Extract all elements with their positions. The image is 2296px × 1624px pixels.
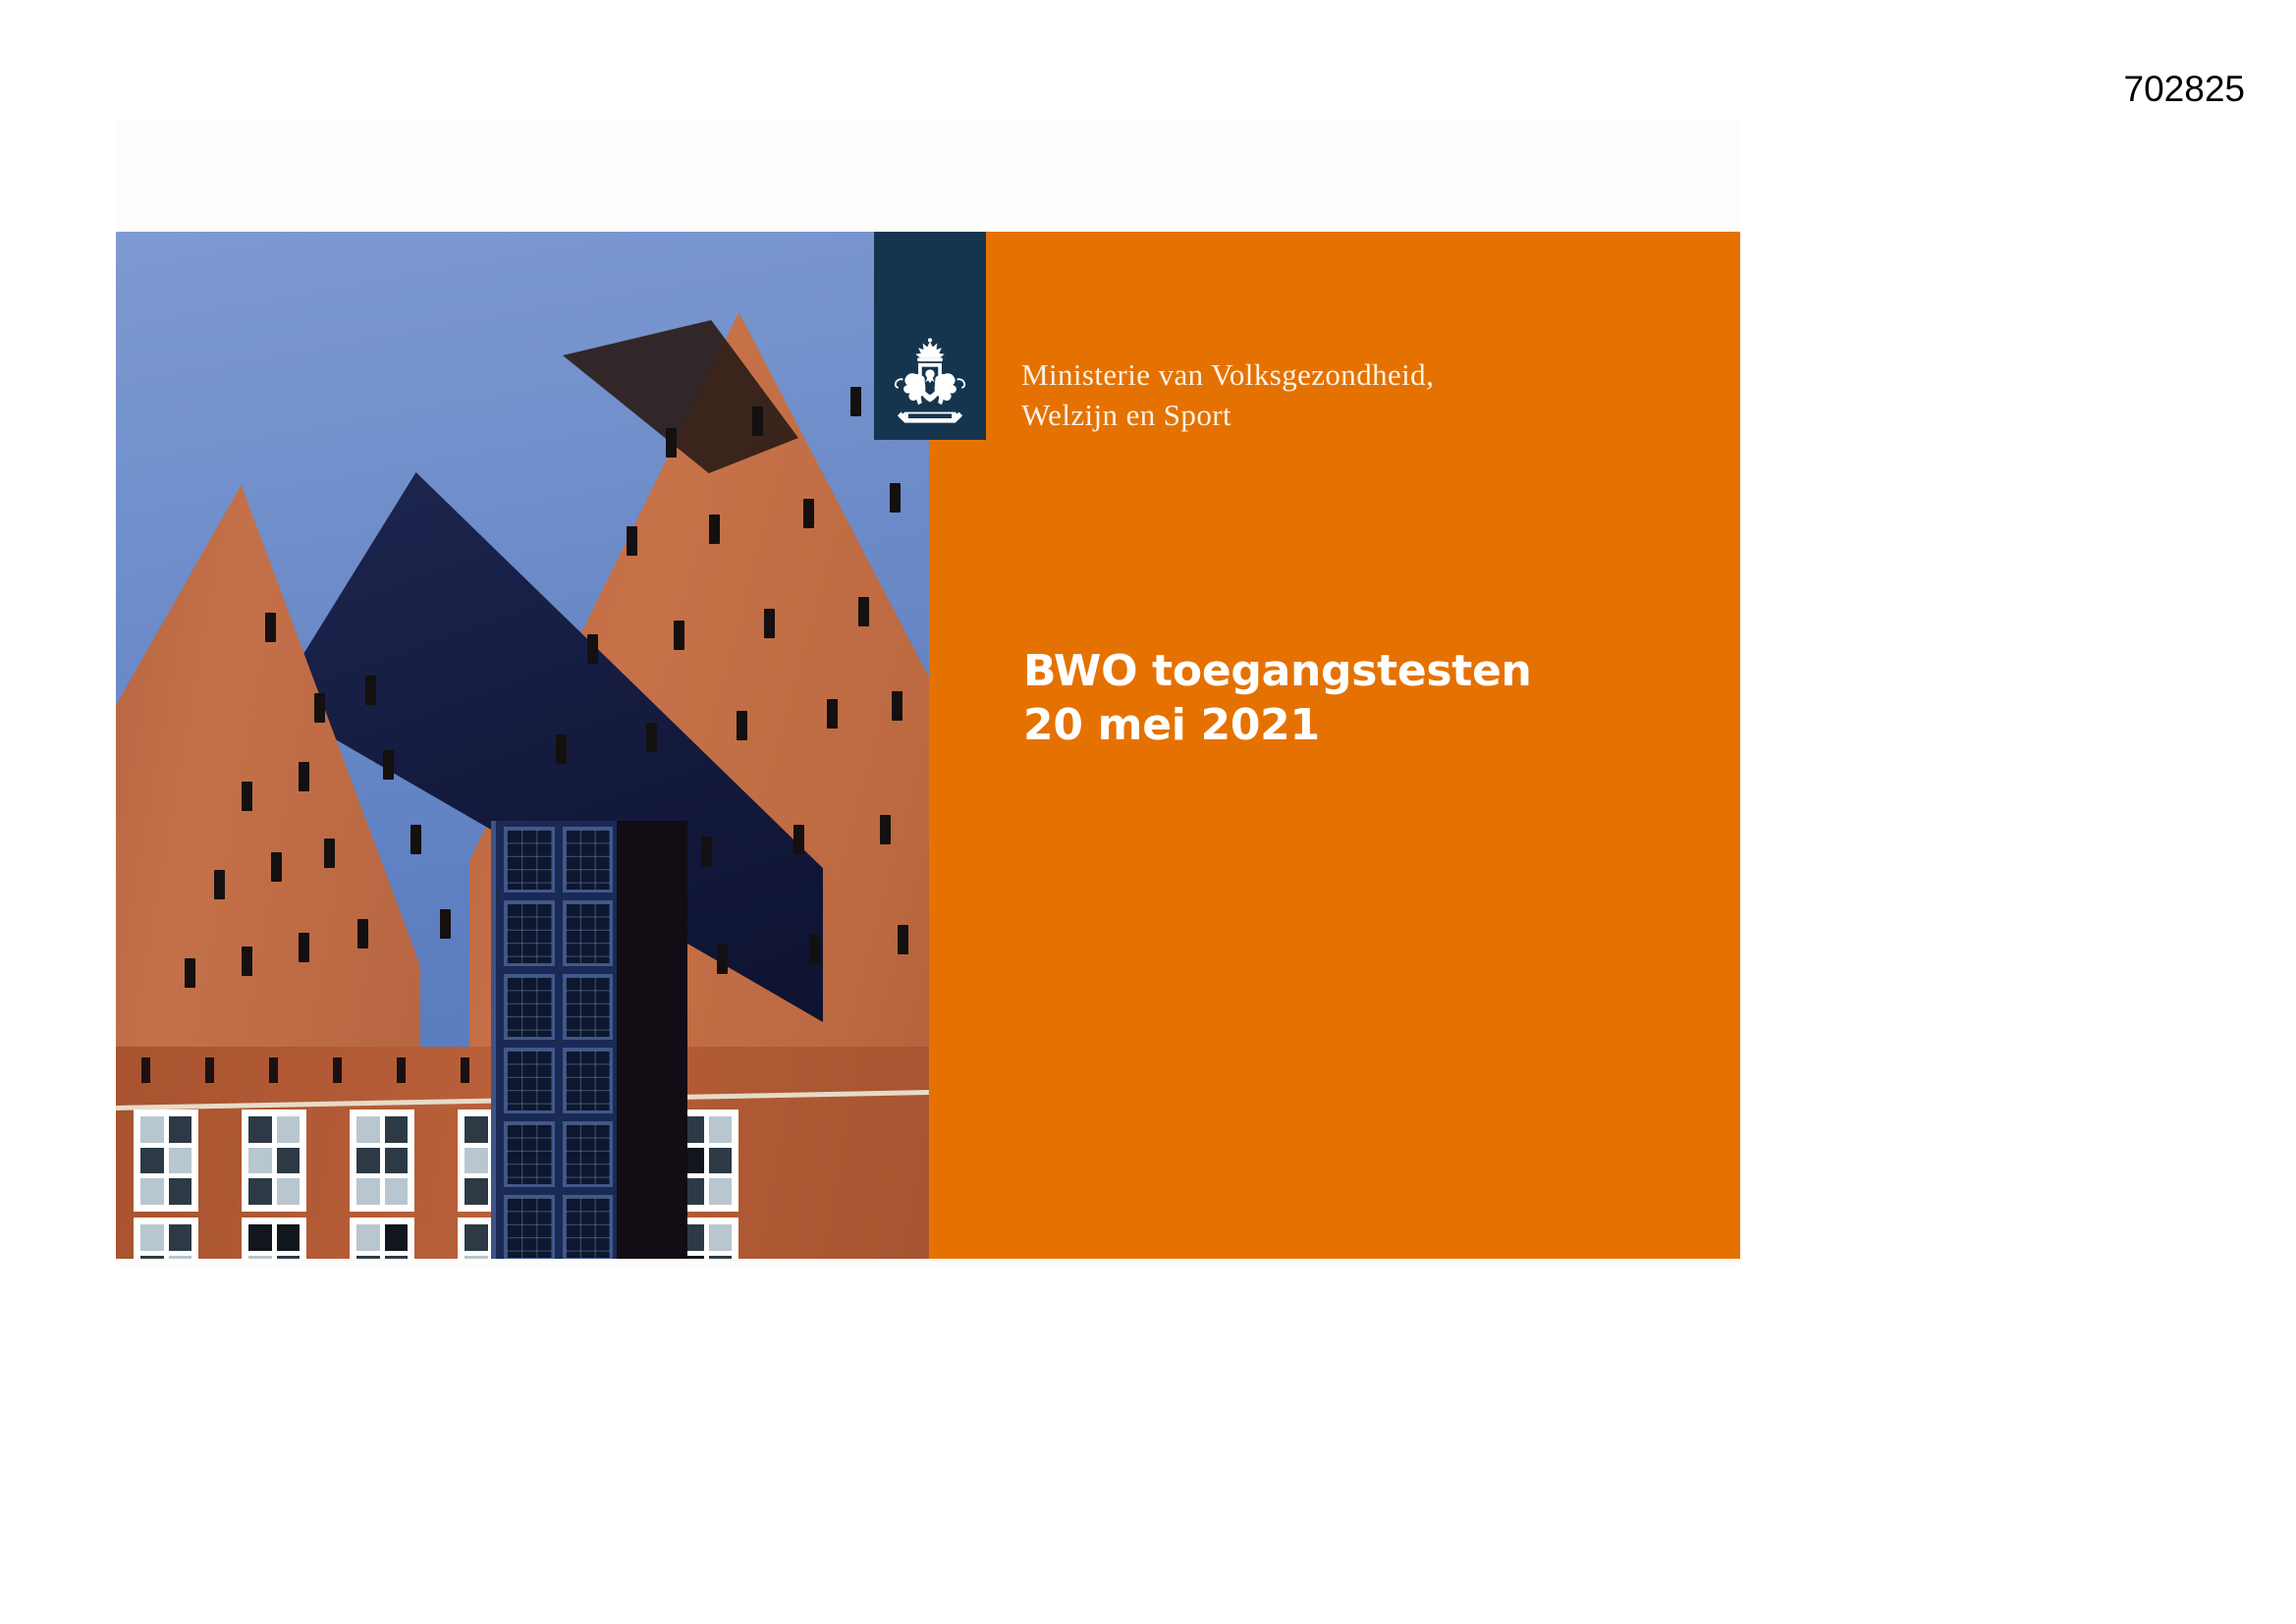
gable-slit-window [365,676,376,705]
facade-window [242,1218,306,1259]
gable-slit-window [890,483,901,513]
gable-slit-window [242,782,252,811]
facade-slit [333,1057,342,1083]
gable-slit-window [809,935,820,964]
gable-slit-window [265,613,276,642]
facade-window [134,1218,198,1259]
gable-slit-window [299,933,309,962]
gable-slit-window [793,825,804,854]
gable-slit-window [898,925,908,954]
gable-slit-window [242,947,252,976]
ministry-logo-block [874,232,986,440]
gable-slit-window [556,734,567,764]
gable-slit-window [214,870,225,899]
gable-slit-window [737,711,747,740]
dutch-royal-coat-of-arms-icon [885,338,975,432]
facade-window [242,1110,306,1212]
slide-canvas: Ministerie van Volksgezondheid, Welzijn … [116,120,1740,1269]
gable-slit-window [717,945,728,974]
glass-stair-tower [491,821,617,1259]
cover-photo [116,232,929,1259]
facade-window [350,1218,414,1259]
gable-slit-window [892,691,902,721]
facade-slit [141,1057,150,1083]
facade-slit [269,1057,278,1083]
gable-slit-window [709,514,720,544]
gable-slit-window [674,621,684,650]
gable-slit-window [271,852,282,882]
gable-slit-window [803,499,814,528]
slide-title: BWO toegangstesten 20 mei 2021 [1023,644,1532,753]
gable-slit-window [587,634,598,664]
facade-window [134,1110,198,1212]
gable-slit-window [357,919,368,948]
gable-slit-window [440,909,451,939]
gable-slit-window [627,526,637,556]
facade-slit [461,1057,469,1083]
gable-slit-window [701,837,712,866]
gable-slit-window [410,825,421,854]
gable-slit-window [880,815,891,844]
gable-slit-window [185,958,195,988]
gable-slit-window [752,406,763,436]
page-number: 702825 [0,71,2245,107]
facade-slit [205,1057,214,1083]
gable-slit-window [666,428,677,458]
gable-slit-window [764,609,775,638]
gable-slit-window [314,693,325,723]
gable-slit-window [858,597,869,626]
ministry-name-label: Ministerie van Volksgezondheid, Welzijn … [1021,355,1434,436]
gable-slit-window [827,699,838,729]
gable-slit-window [383,750,394,780]
gable-slit-window [324,839,335,868]
shadow-slab [617,821,687,1259]
gable-slit-window [646,723,657,752]
orange-panel: Ministerie van Volksgezondheid, Welzijn … [929,232,1740,1259]
gable-slit-window [850,387,861,416]
tower-glazing-grid [504,827,613,1259]
gable-slit-window [299,762,309,791]
facade-slit [397,1057,406,1083]
facade-window [350,1110,414,1212]
